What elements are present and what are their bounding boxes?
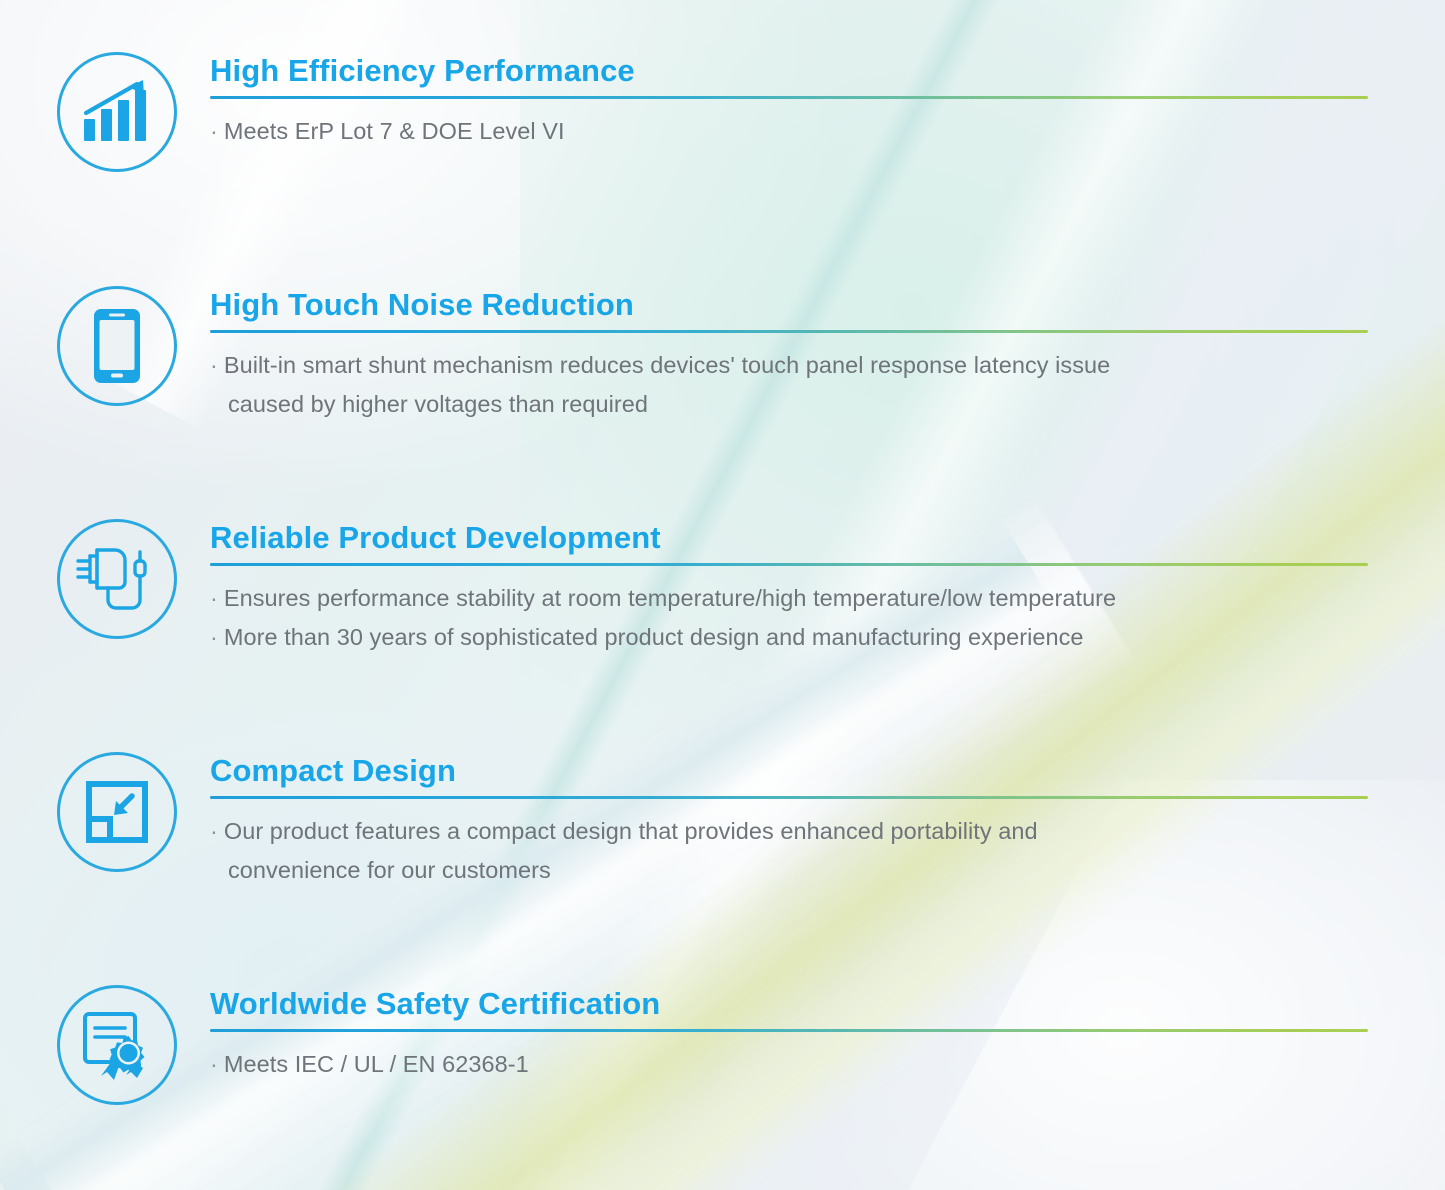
feature-divider: [210, 796, 1368, 799]
feature-list: High Efficiency Performance ·Meets ErP L…: [0, 0, 1445, 1190]
bullet-marker: ·: [210, 346, 218, 385]
bullet-marker: ·: [210, 812, 218, 851]
bullet-text: Our product features a compact design th…: [224, 818, 1038, 844]
feature-bullet: ·More than 30 years of sophisticated pro…: [210, 618, 1370, 657]
feature-bullet: ·Built-in smart shunt mechanism reduces …: [210, 346, 1370, 385]
feature-text-block: High Efficiency Performance ·Meets ErP L…: [210, 52, 1370, 151]
feature-text-block: Worldwide Safety Certification ·Meets IE…: [210, 985, 1370, 1084]
feature-bullet: ·Our product features a compact design t…: [210, 812, 1370, 851]
feature-text-block: Compact Design ·Our product features a c…: [210, 752, 1370, 890]
bullet-text: More than 30 years of sophisticated prod…: [224, 624, 1084, 650]
certificate-seal-icon: [57, 985, 177, 1105]
feature-bullet-continuation: caused by higher voltages than required: [210, 385, 1370, 424]
feature-bullets: ·Built-in smart shunt mechanism reduces …: [210, 346, 1370, 424]
feature-title: High Efficiency Performance: [210, 52, 1370, 90]
feature-text-block: Reliable Product Development ·Ensures pe…: [210, 519, 1370, 657]
feature-title: Reliable Product Development: [210, 519, 1370, 557]
feature-divider: [210, 1029, 1368, 1032]
smartphone-icon: [57, 286, 177, 406]
feature-bullets: ·Meets ErP Lot 7 & DOE Level VI: [210, 112, 1370, 151]
feature-bullets: ·Meets IEC / UL / EN 62368-1: [210, 1045, 1370, 1084]
feature-bullet: ·Ensures performance stability at room t…: [210, 579, 1370, 618]
bullet-text: Meets IEC / UL / EN 62368-1: [224, 1051, 529, 1077]
compact-resize-icon: [57, 752, 177, 872]
bullet-text: Meets ErP Lot 7 & DOE Level VI: [224, 118, 565, 144]
bullet-marker: ·: [210, 618, 218, 657]
bullet-marker: ·: [210, 1045, 218, 1084]
bullet-marker: ·: [210, 112, 218, 151]
bar-chart-growth-icon: [57, 52, 177, 172]
feature-title: Worldwide Safety Certification: [210, 985, 1370, 1023]
feature-divider: [210, 563, 1368, 566]
feature-divider: [210, 96, 1368, 99]
feature-bullet: ·Meets ErP Lot 7 & DOE Level VI: [210, 112, 1370, 151]
feature-title: Compact Design: [210, 752, 1370, 790]
feature-title: High Touch Noise Reduction: [210, 286, 1370, 324]
feature-text-block: High Touch Noise Reduction ·Built-in sma…: [210, 286, 1370, 424]
feature-bullets: ·Our product features a compact design t…: [210, 812, 1370, 890]
feature-bullet: ·Meets IEC / UL / EN 62368-1: [210, 1045, 1370, 1084]
bullet-marker: ·: [210, 579, 218, 618]
feature-divider: [210, 330, 1368, 333]
bullet-text: Ensures performance stability at room te…: [224, 585, 1116, 611]
feature-bullets: ·Ensures performance stability at room t…: [210, 579, 1370, 657]
power-adapter-icon: [57, 519, 177, 639]
bullet-text: Built-in smart shunt mechanism reduces d…: [224, 352, 1110, 378]
feature-bullet-continuation: convenience for our customers: [210, 851, 1370, 890]
